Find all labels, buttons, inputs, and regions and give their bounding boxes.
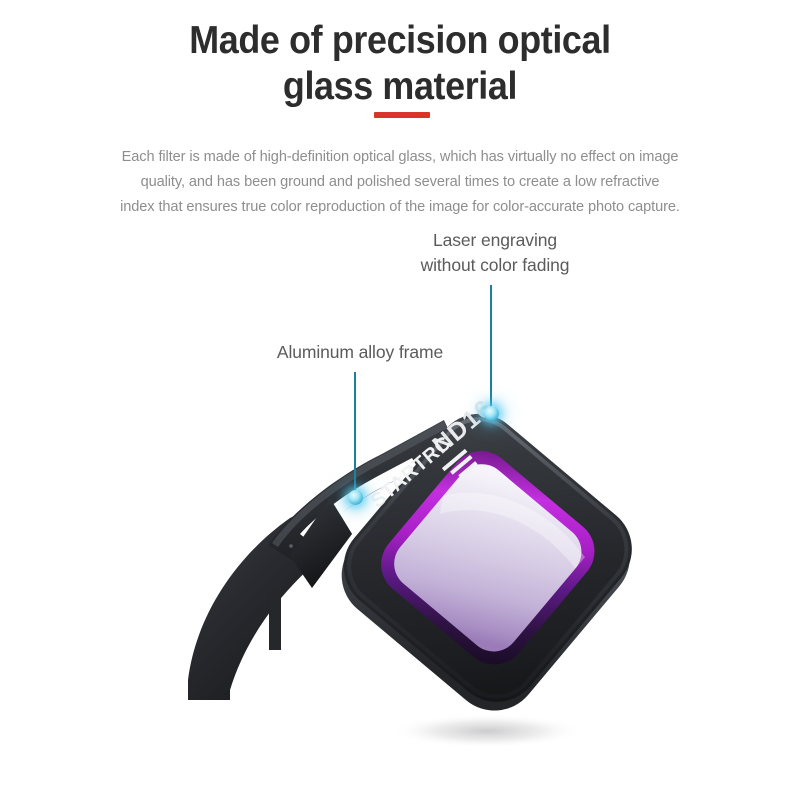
callout-label-laser-engraving: Laser engraving without color fading <box>375 228 615 278</box>
callout-label-aluminum-frame: Aluminum alloy frame <box>250 340 470 365</box>
callout-laser-line-2: without color fading <box>375 253 615 278</box>
callout-laser-line-1: Laser engraving <box>375 228 615 253</box>
accent-divider <box>374 112 430 118</box>
brand-textpath: STARTRC <box>367 432 456 512</box>
leader-line-laser-engraving <box>490 285 492 411</box>
arm-vent-dot <box>289 544 293 548</box>
headline-line-2: glass material <box>32 64 768 110</box>
body-line-2: quality, and has been ground and polishe… <box>100 170 700 195</box>
callout-frame-line-1: Aluminum alloy frame <box>250 340 470 365</box>
body-line-3: index that ensures true color reproducti… <box>100 195 700 220</box>
leader-line-aluminum-frame <box>354 372 356 496</box>
laser-engraving-marks: ND16 STARTRC <box>367 394 499 513</box>
callout-dot-aluminum-frame <box>348 490 363 505</box>
aluminum-alloy-bracket <box>188 420 456 700</box>
page-title: Made of precision optical glass material <box>32 18 768 110</box>
product-feature-page: Made of precision optical glass material… <box>0 0 800 800</box>
filter-frame <box>321 396 653 729</box>
body-paragraph: Each filter is made of high-definition o… <box>100 145 700 220</box>
headline-line-1: Made of precision optical <box>32 18 768 64</box>
product-shadow <box>391 714 583 748</box>
filter-designation-text: ND16 <box>427 394 498 460</box>
brand-wordmark-text: STARTRC <box>367 432 456 512</box>
product-illustration: ND16 STARTRC <box>0 0 800 800</box>
body-line-1: Each filter is made of high-definition o… <box>100 145 700 170</box>
callout-dot-laser-engraving <box>484 406 499 421</box>
nd16-textpath: ND16 <box>427 394 498 460</box>
brand-logo-bars <box>442 449 478 484</box>
